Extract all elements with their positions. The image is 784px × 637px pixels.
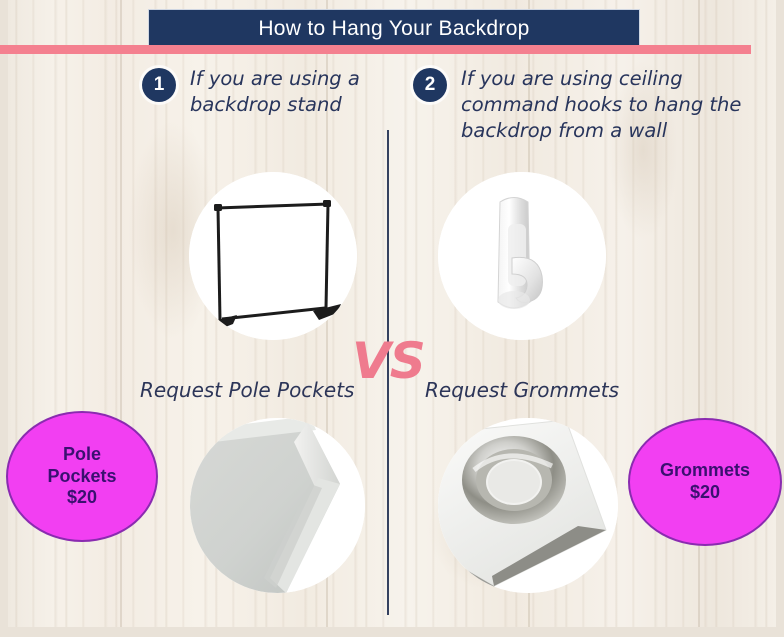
step-2-text: If you are using ceiling command hooks t…	[461, 66, 743, 144]
title-underline-rule	[0, 45, 751, 54]
pole-pockets-badge-line-1: Pole	[63, 444, 101, 466]
vs-label: VS	[352, 332, 425, 390]
step-1-text: If you are using a backdrop stand	[190, 66, 382, 118]
backdrop-stand-photo	[189, 172, 357, 340]
step-1-heading: 1 If you are using a backdrop stand	[142, 66, 382, 118]
pole-pockets-badge-price: $20	[67, 487, 97, 509]
pole-pocket-photo	[190, 418, 365, 593]
step-2-heading: 2 If you are using ceiling command hooks…	[413, 66, 743, 144]
grommet-photo	[438, 418, 618, 593]
infographic-poster: How to Hang Your Backdrop 1 If you are u…	[0, 0, 784, 637]
pole-pockets-badge-line-2: Pockets	[47, 466, 116, 488]
command-hook-photo	[438, 172, 606, 340]
grommets-caption: Request Grommets	[425, 378, 619, 402]
grommets-price-badge: Grommets $20	[628, 418, 782, 546]
page-title: How to Hang Your Backdrop	[258, 17, 529, 41]
grommets-badge-line-1: Grommets	[660, 460, 750, 482]
step-1-number-badge: 1	[142, 68, 176, 102]
poster-title-bar: How to Hang Your Backdrop	[148, 9, 640, 48]
pole-pockets-caption: Request Pole Pockets	[140, 378, 354, 402]
grommets-badge-price: $20	[690, 482, 720, 504]
step-2-number-badge: 2	[413, 68, 447, 102]
pole-pockets-price-badge: Pole Pockets $20	[6, 411, 158, 542]
